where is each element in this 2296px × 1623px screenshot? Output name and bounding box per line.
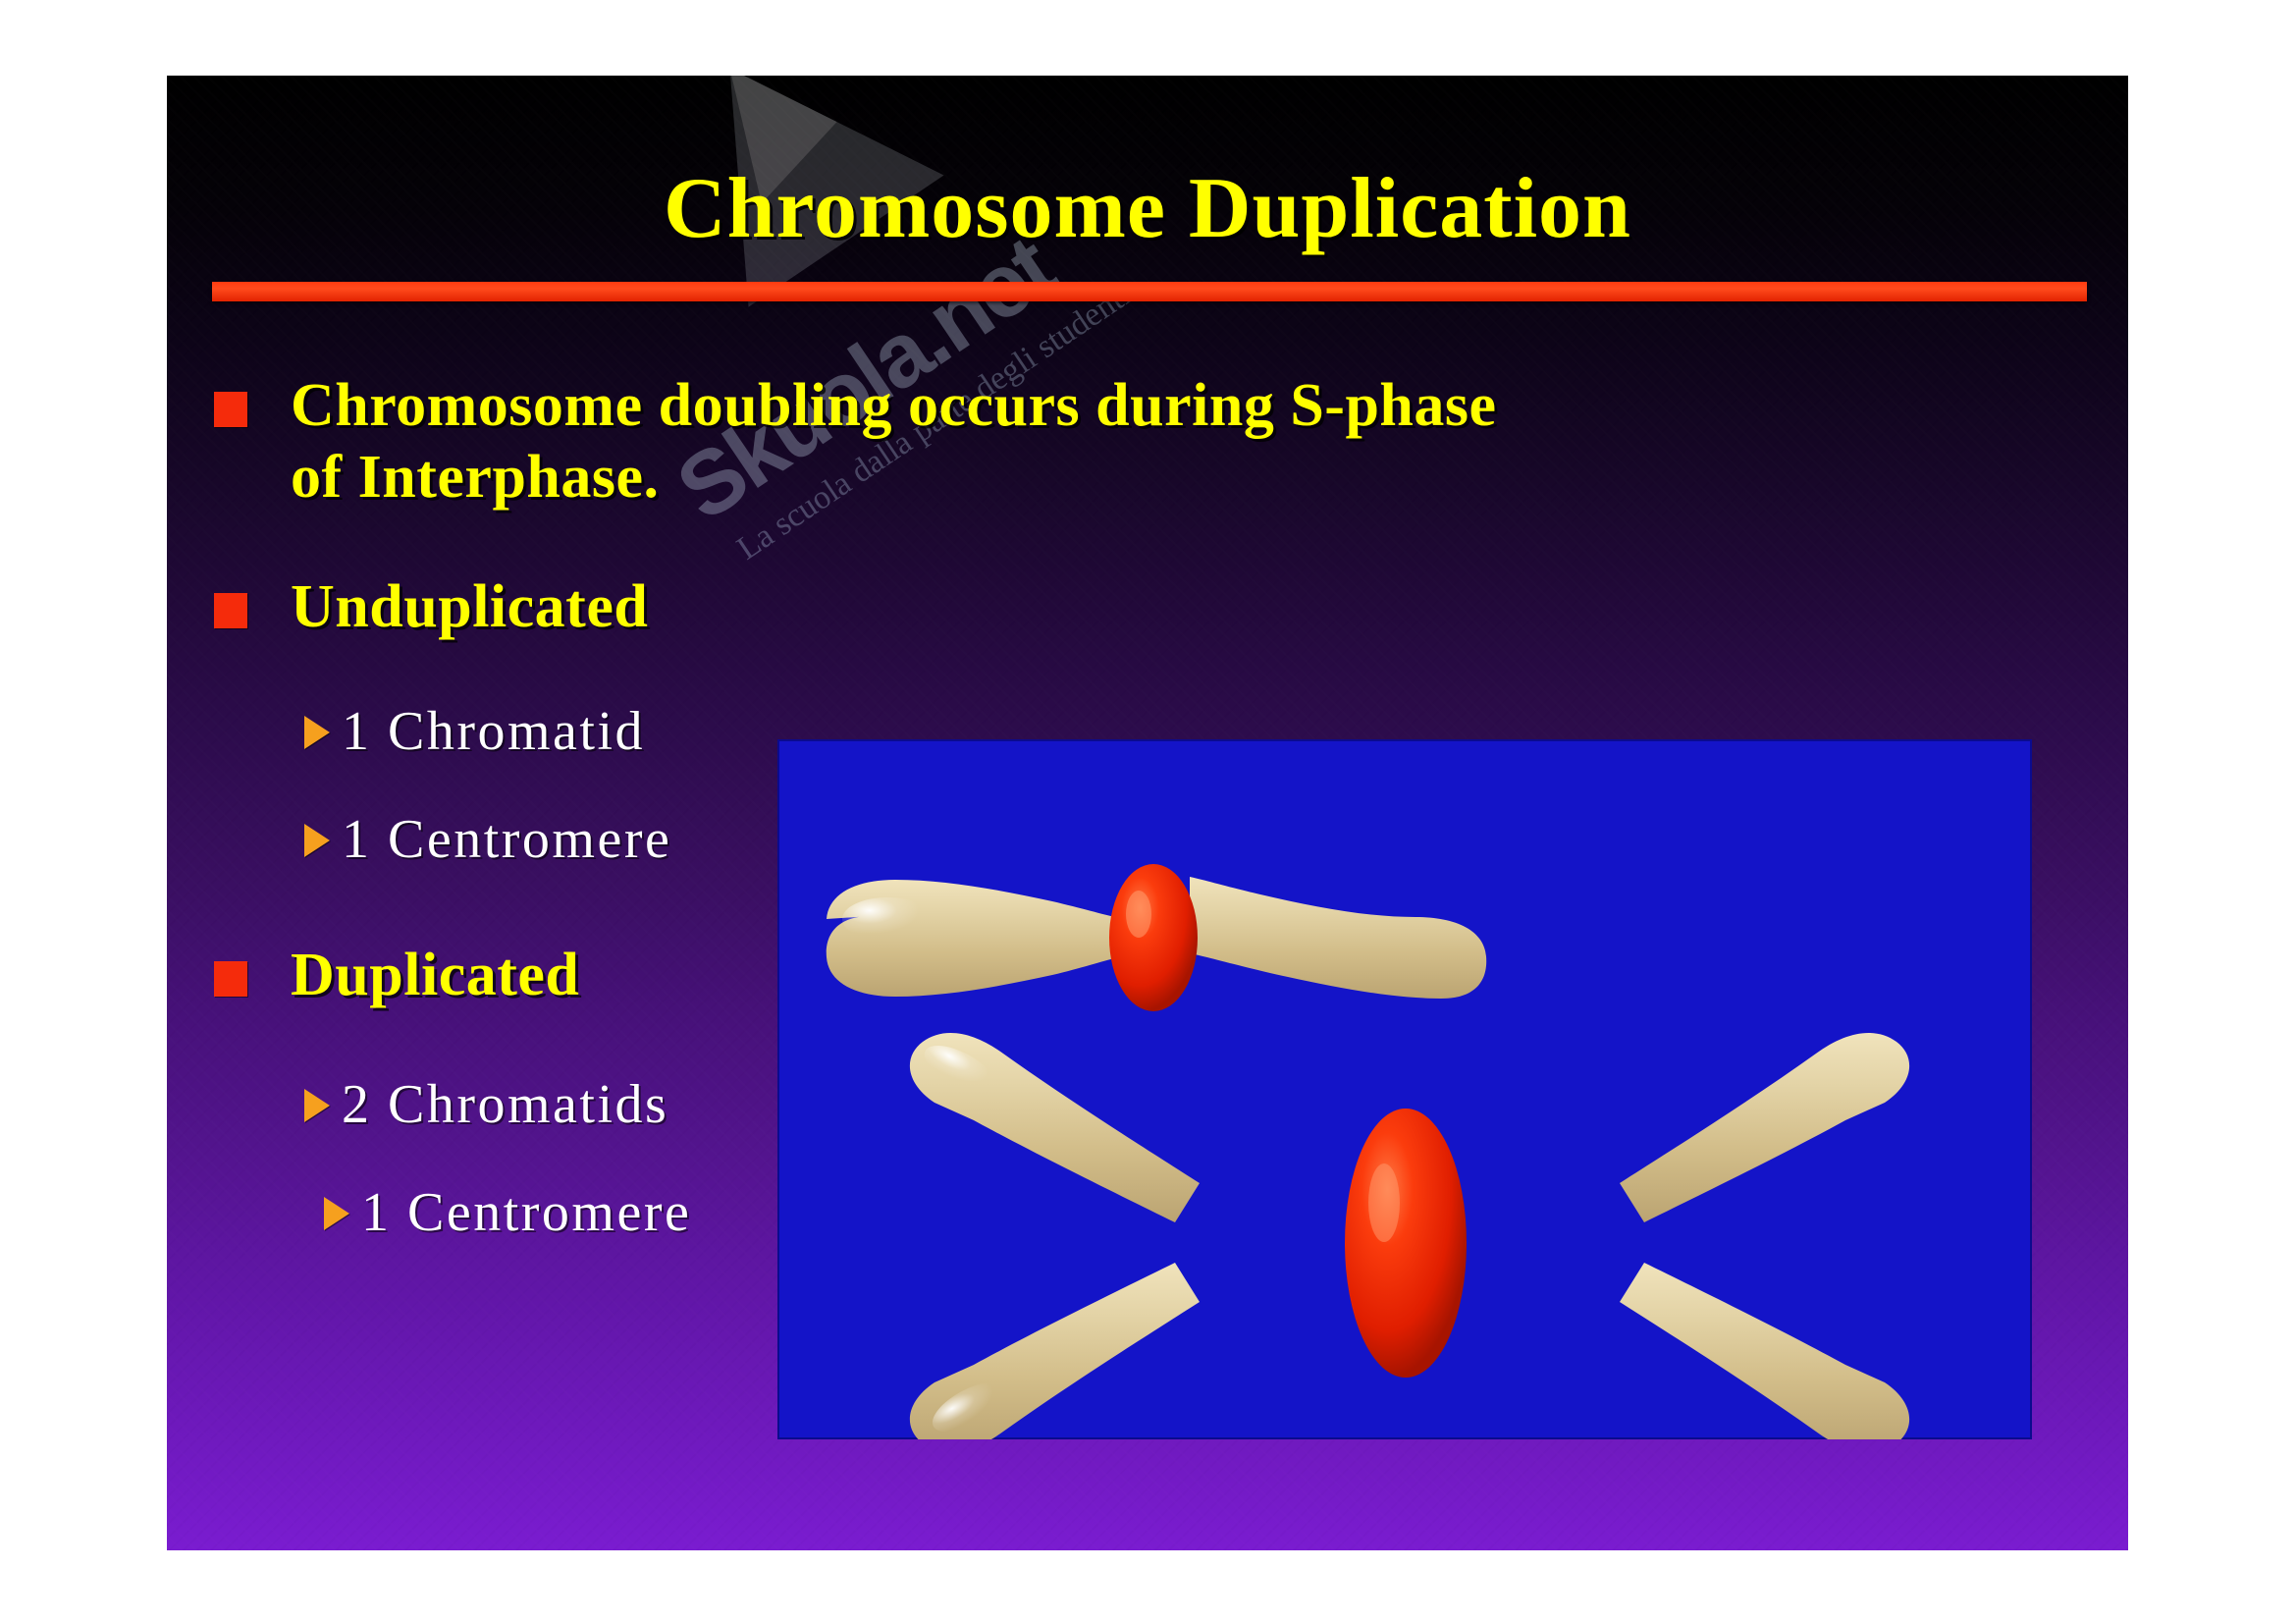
bullet-item-1-centromere-unduplicated: 1 Centromere (304, 810, 671, 871)
orange-triangle-bullet-icon (304, 824, 330, 857)
bullet-item-unduplicated: Unduplicated (214, 571, 648, 643)
bullet-text: Unduplicated (291, 571, 648, 643)
bullet-item-chromosome-doubling: Chromosome doubling occurs during S-phas… (214, 370, 1883, 514)
bullet-line-1: Chromosome doubling occurs during S-phas… (291, 372, 1497, 439)
slide-canvas: Skuola.net La scuola dalla parte degli s… (167, 76, 2128, 1550)
orange-triangle-bullet-icon (324, 1197, 349, 1230)
centromere (1109, 864, 1198, 1011)
chromosome-figure-panel (777, 739, 2032, 1439)
bullet-text: Chromosome doubling occurs during S-phas… (291, 370, 1497, 514)
bullet-text: 1 Centromere (361, 1183, 691, 1244)
chromosome-illustration (777, 739, 2032, 1439)
bullet-text: 2 Chromatids (342, 1075, 668, 1136)
bullet-text: 1 Chromatid (342, 702, 645, 763)
bullet-item-duplicated: Duplicated (214, 940, 579, 1011)
bullet-item-1-centromere-duplicated: 1 Centromere (324, 1183, 691, 1244)
unduplicated-chromosome (827, 864, 1486, 1011)
chromatid-right (1190, 877, 1486, 999)
orange-triangle-bullet-icon (304, 1089, 330, 1122)
bullet-line-2: of Interphase. (291, 444, 660, 511)
red-square-bullet-icon (214, 593, 247, 628)
red-square-bullet-icon (214, 961, 247, 997)
page-title: Chromosome Duplication (167, 166, 2128, 252)
orange-triangle-bullet-icon (304, 716, 330, 749)
chromatid-upper-right (1620, 1033, 1909, 1222)
red-square-bullet-icon (214, 392, 247, 427)
chromatid-lower-right (1620, 1263, 1909, 1439)
bullet-text: Duplicated (291, 940, 579, 1011)
bullet-item-1-chromatid: 1 Chromatid (304, 702, 645, 763)
centromere-highlight (1368, 1163, 1400, 1242)
bullet-text: 1 Centromere (342, 810, 671, 871)
duplicated-chromosome (910, 1033, 1909, 1439)
title-divider (212, 282, 2087, 301)
chromatid-left-highlight (842, 897, 933, 941)
centromere (1345, 1109, 1467, 1378)
bullet-item-2-chromatids: 2 Chromatids (304, 1075, 668, 1136)
centromere-highlight (1126, 891, 1151, 938)
